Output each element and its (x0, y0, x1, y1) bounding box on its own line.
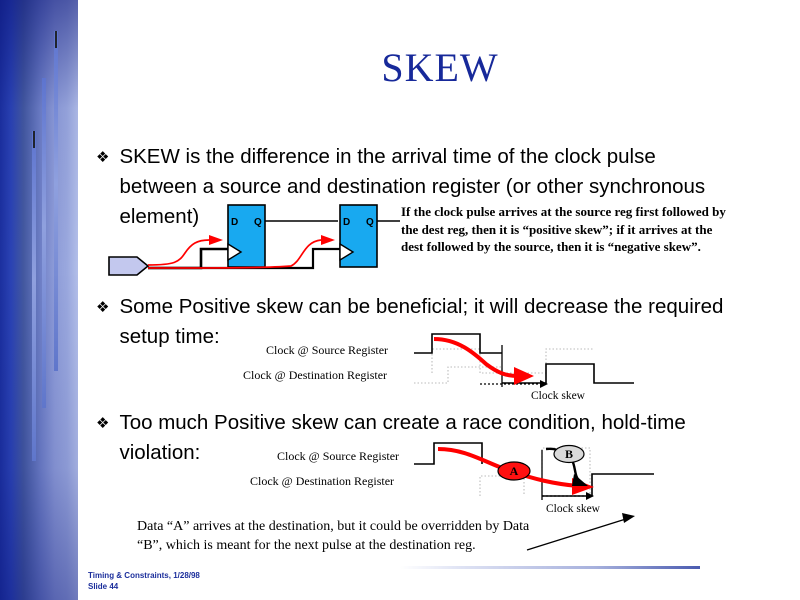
race-source-register-label: Clock @ Source Register (277, 449, 399, 464)
footer-divider-line (400, 566, 700, 569)
marker-b-label: B (565, 447, 573, 461)
sidebar-accent-cap-3 (33, 131, 35, 148)
clock-arrival-arrowhead-2 (321, 235, 335, 245)
flipflop-1-q-label: Q (254, 217, 262, 228)
bullet-marker-icon: ❖ (96, 292, 109, 322)
clock-source-shape (109, 257, 148, 275)
skew-delay-arrow-path (434, 339, 518, 376)
ghost-pulse-upper (432, 349, 594, 373)
ghost-pulse-lower (414, 367, 502, 383)
sidebar-accent-line-3 (32, 131, 36, 461)
sidebar-accent-cap-1 (55, 31, 57, 48)
flipflop-1-d-label: D (231, 217, 238, 228)
flipflop-2-body (340, 205, 377, 267)
flipflop-2-q-label: Q (366, 217, 374, 228)
marker-a-label: A (510, 464, 519, 478)
bullet-marker-icon: ❖ (96, 142, 109, 172)
register-chain-diagram: D Q D Q (105, 198, 400, 290)
data-b-arrowhead (572, 474, 588, 486)
clock-arrival-arrowhead-1 (209, 235, 223, 245)
bullet-marker-icon: ❖ (96, 408, 109, 438)
sidebar-accent-line-2 (42, 78, 46, 408)
page-title: SKEW (90, 44, 790, 91)
bottom-note-pointer-arrow (525, 510, 645, 560)
positive-negative-skew-note: If the clock pulse arrives at the source… (401, 203, 731, 256)
flipflop-2-d-label: D (343, 217, 350, 228)
setup-source-register-label: Clock @ Source Register (266, 343, 388, 358)
sidebar-accent-line-1 (54, 31, 58, 371)
sidebar-decoration (0, 0, 78, 600)
race-condition-waveform-diagram: A B (414, 440, 654, 508)
flipflop-1-body (228, 205, 265, 267)
data-override-note: Data “A” arrives at the destination, but… (137, 517, 557, 555)
setup-destination-register-label: Clock @ Destination Register (243, 368, 387, 383)
slide-canvas: SKEW ❖ SKEW is the difference in the arr… (0, 0, 800, 600)
race-destination-register-label: Clock @ Destination Register (250, 474, 394, 489)
setup-time-waveform-diagram (414, 331, 634, 393)
footer-text: Timing & Constraints, 1/28/98 Slide 44 (88, 570, 200, 592)
